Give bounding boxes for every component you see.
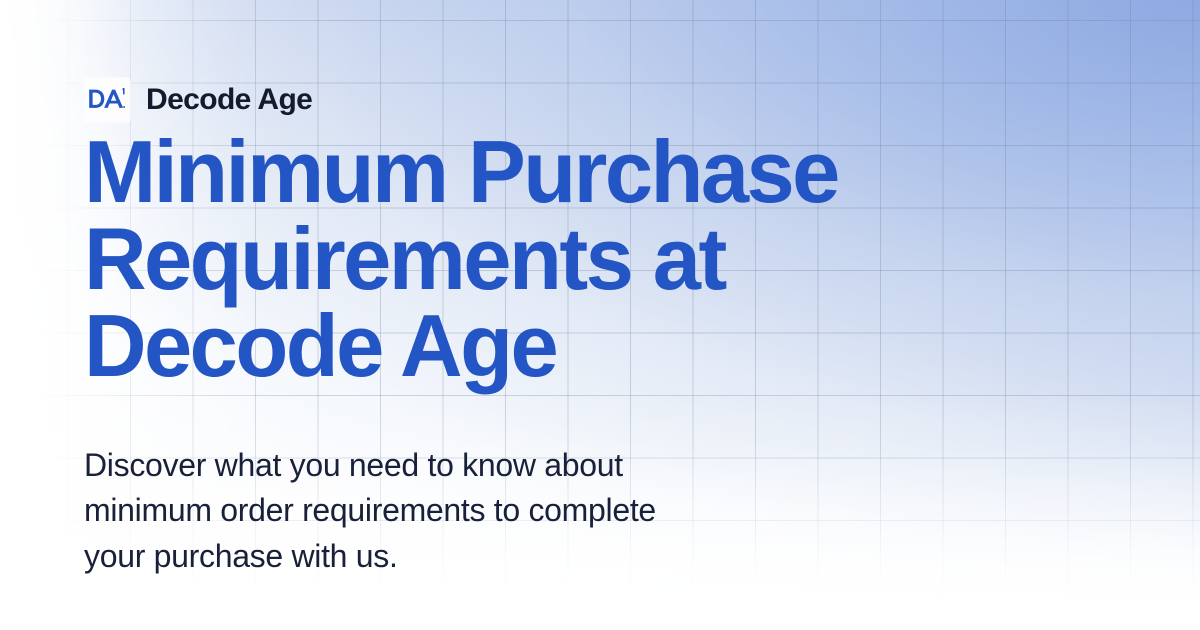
brand-name: Decode Age [146,85,312,115]
headline-line-3: Decode Age [84,296,556,395]
subtitle-line-2: minimum order requirements to complete [84,492,656,528]
subtitle-line-3: your purchase with us. [84,538,398,574]
hero-content: Decode Age Minimum PurchaseRequirements … [84,0,1084,630]
subtitle-line-1: Discover what you need to know about [84,447,623,483]
headline-line-1: Minimum Purchase [84,122,838,221]
headline-line-2: Requirements at [84,209,725,308]
decode-age-monogram-icon [84,78,130,122]
page-title: Minimum PurchaseRequirements atDecode Ag… [84,128,971,389]
share-card-canvas: Decode Age Minimum PurchaseRequirements … [0,0,1200,630]
brand-row: Decode Age [84,78,312,122]
page-subtitle: Discover what you need to know aboutmini… [84,443,824,579]
